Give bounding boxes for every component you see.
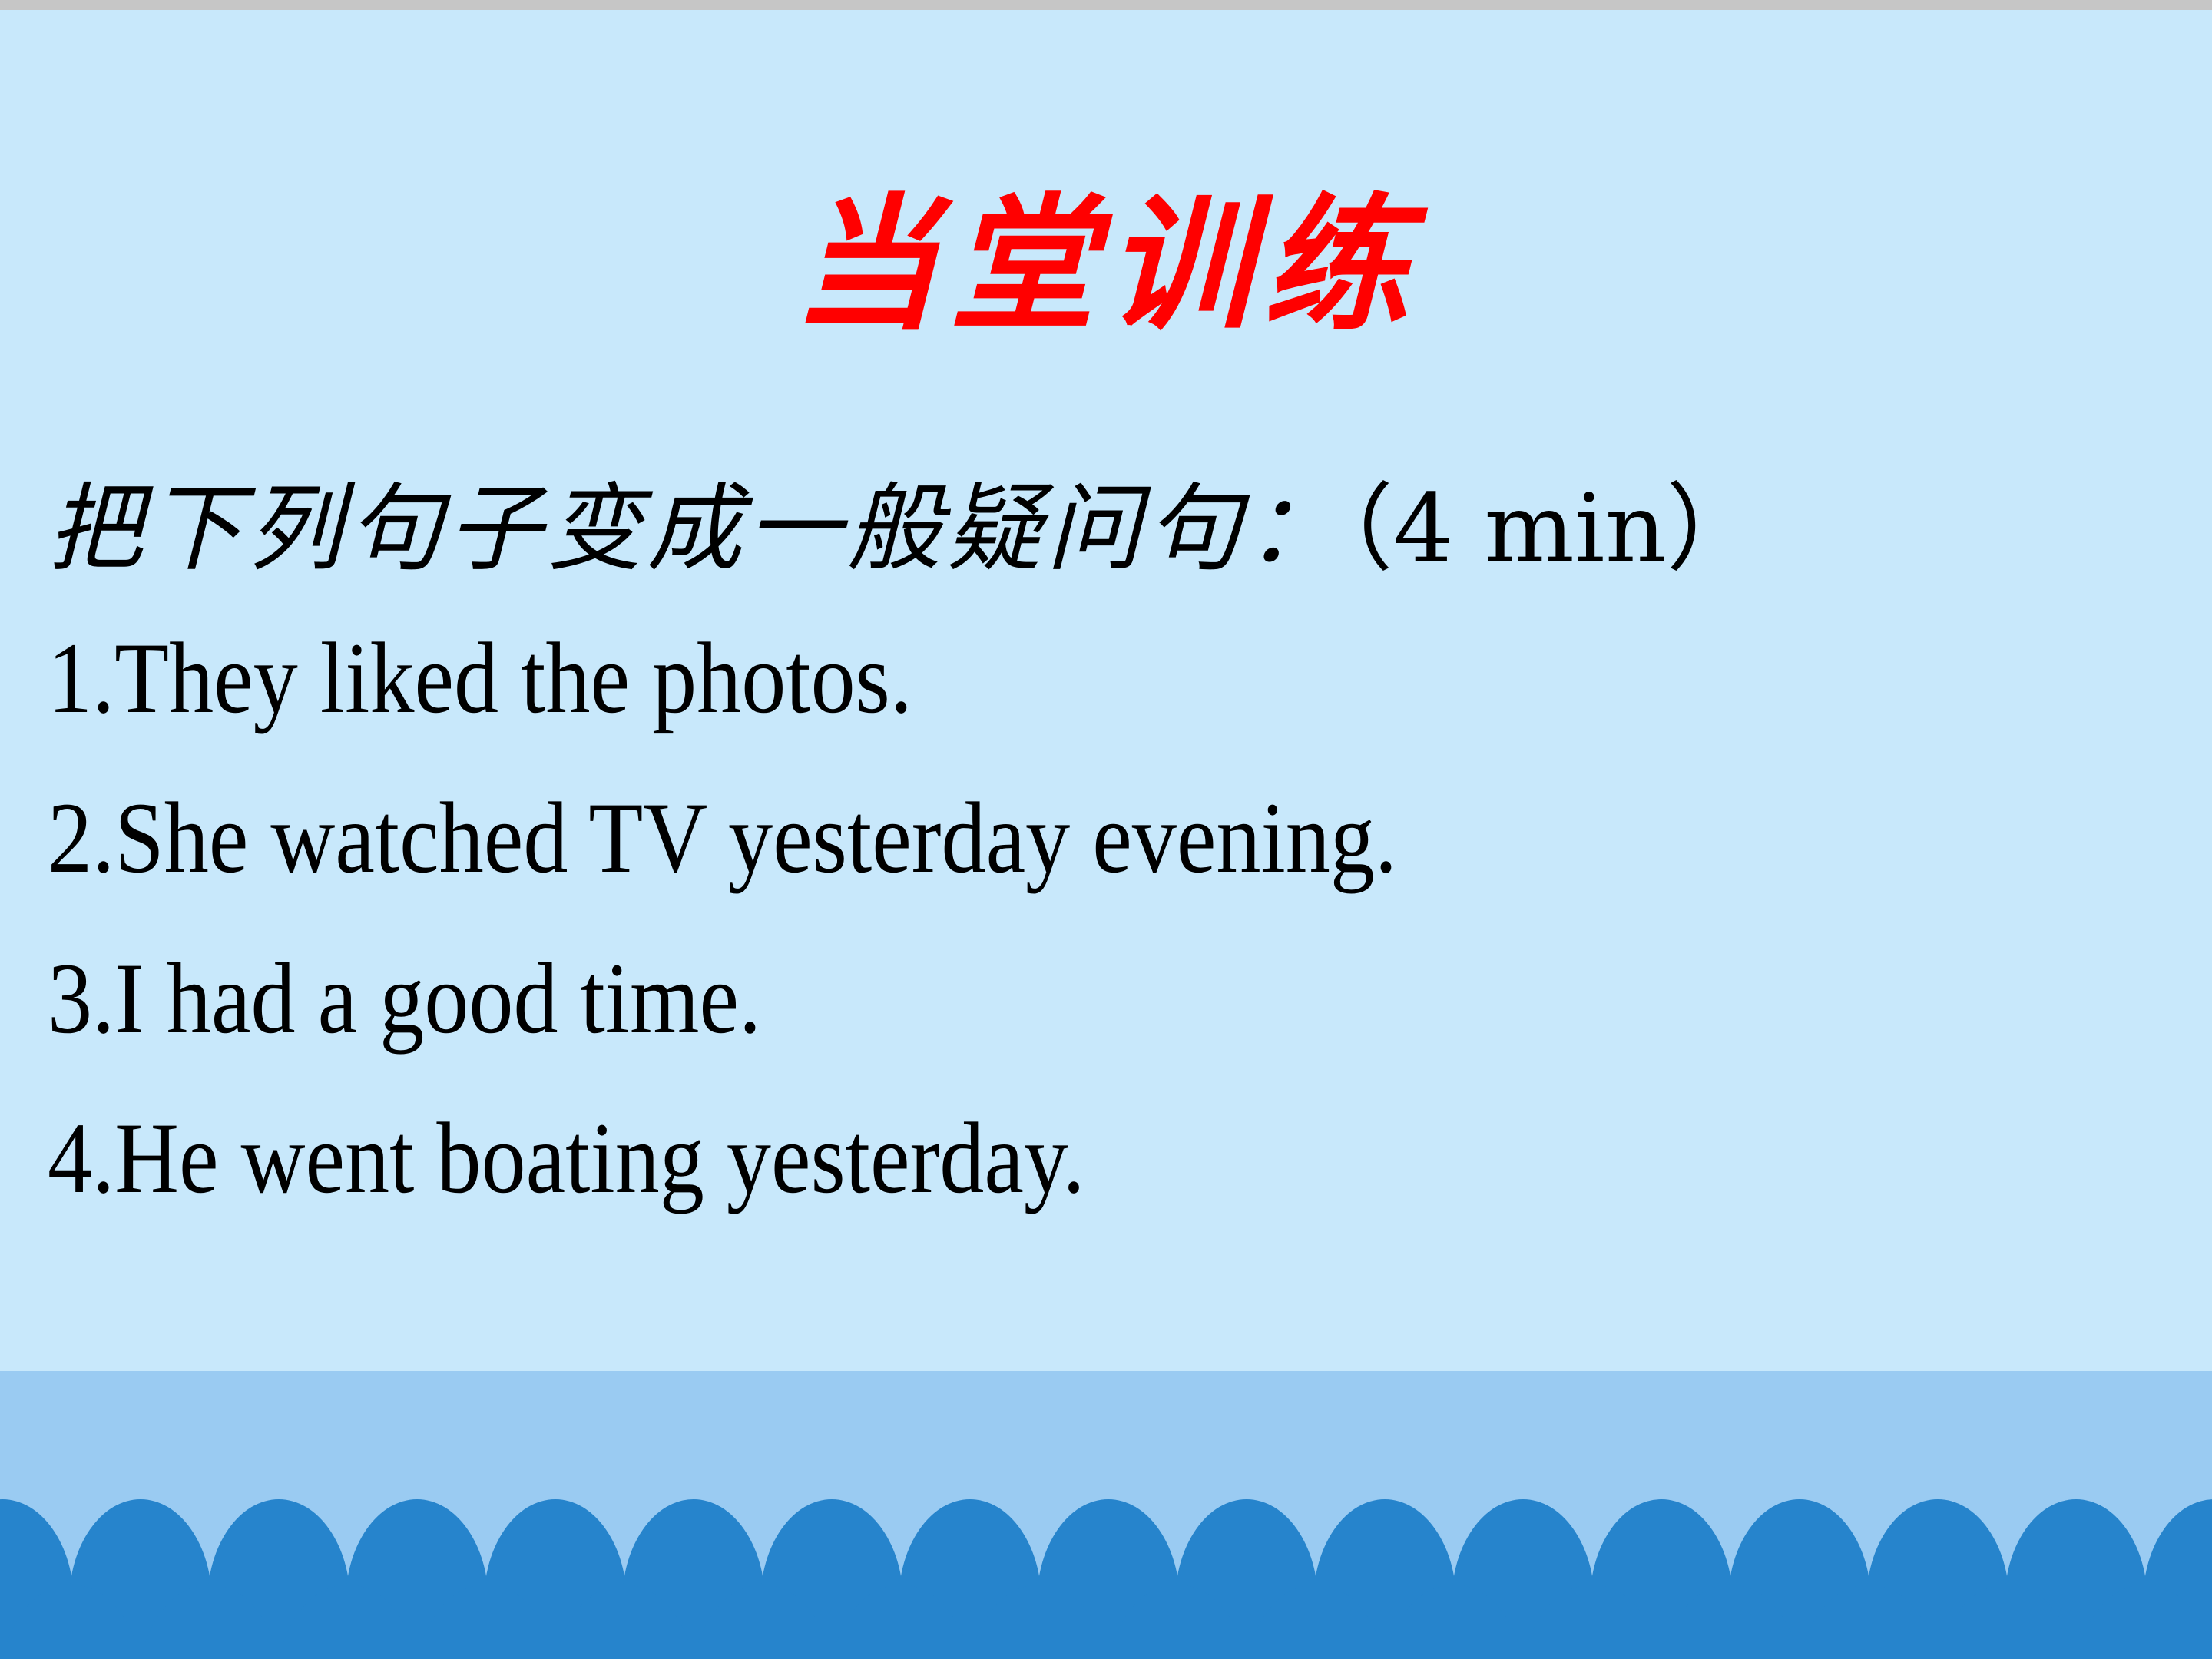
arch-shape <box>1382 1584 1525 1659</box>
list-item: 3.I had a good time. <box>48 919 1940 1079</box>
content-block: 把下列句子变成一般疑问句：（4 min） 1.They liked the ph… <box>48 461 2198 1239</box>
arch-shape <box>1936 1584 2078 1659</box>
slide-canvas: 当堂训练 把下列句子变成一般疑问句：（4 min） 1.They liked t… <box>0 0 2212 1659</box>
instruction-line: 把下列句子变成一般疑问句：（4 min） <box>48 461 2198 598</box>
arch-row-front <box>0 1584 2212 1659</box>
arch-shape <box>0 1584 143 1659</box>
footer-decoration-band <box>0 1371 2212 1659</box>
arch-shape <box>829 1584 972 1659</box>
sentence-list: 1.They liked the photos. 2.She watched T… <box>48 598 2198 1239</box>
top-gray-strip <box>0 0 2212 10</box>
arch-shape <box>1244 1584 1387 1659</box>
arch-shape <box>276 1584 419 1659</box>
arch-shape <box>138 1584 281 1659</box>
arch-shape <box>1659 1584 1802 1659</box>
list-item: 1.They liked the photos. <box>48 598 1940 759</box>
arch-shape <box>1797 1584 1940 1659</box>
arch-shape <box>968 1584 1111 1659</box>
arch-shape <box>1521 1584 1664 1659</box>
page-title: 当堂训练 <box>0 192 2212 338</box>
instruction-text: 把下列句子变成一般疑问句： <box>48 474 1346 584</box>
arch-shape <box>415 1584 558 1659</box>
arch-shape <box>553 1584 696 1659</box>
instruction-time-limit: （4 min） <box>1346 474 1761 584</box>
list-item: 2.She watched TV yesterday evening. <box>48 758 1940 919</box>
arch-shape <box>691 1584 834 1659</box>
arch-shape <box>1106 1584 1249 1659</box>
arch-shape <box>2074 1584 2212 1659</box>
list-item: 4.He went boating yesterday. <box>48 1078 1940 1239</box>
